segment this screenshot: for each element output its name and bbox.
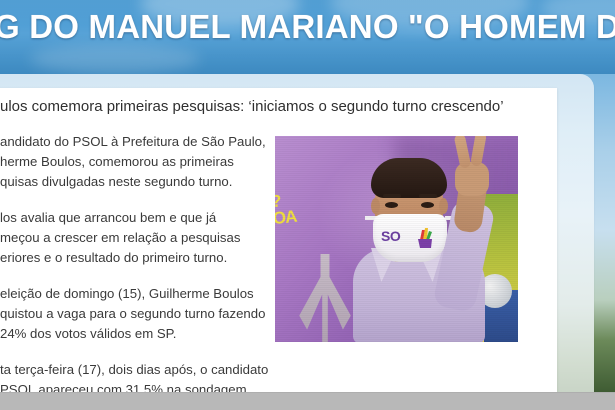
subject-eye-right	[421, 202, 434, 208]
psol-logo-icon	[413, 224, 437, 250]
cloud-decoration	[30, 44, 200, 74]
photo-canvas: ?OA	[275, 136, 518, 342]
horizontal-scrollbar[interactable]	[0, 392, 615, 410]
paragraph-line: meçou a crescer em relação a pesquisas	[0, 230, 240, 245]
paragraph-line: 24% dos votos válidos em SP.	[0, 326, 176, 341]
subject-peace-finger-middle	[470, 136, 487, 167]
browser-page: G DO MANUEL MARIANO "O HOMEM DA VIG ulos…	[0, 0, 615, 410]
paragraph-line: PSOL apareceu com 31,5% na sondagem	[0, 382, 247, 392]
mask-psol-text: SO	[381, 228, 400, 244]
subject-eyebrow-left	[383, 194, 401, 198]
paragraph-line: quistou a vaga para o segundo turno faze…	[0, 306, 265, 321]
paragraph-line: los avalia que arrancou bem e que já	[0, 210, 216, 225]
article-card: ulos comemora primeiras pesquisas: ‘inic…	[0, 88, 557, 392]
paragraph-line: ta terça-feira (17), dois dias após, o c…	[0, 362, 268, 377]
subject-peace-finger-index	[454, 136, 472, 169]
paragraph-line: quisas divulgadas neste segundo turno.	[0, 174, 232, 189]
subject-eyebrow-right	[419, 194, 437, 198]
article-body: andidato do PSOL à Prefeitura de São Pau…	[0, 132, 262, 392]
paragraph-line: andidato do PSOL à Prefeitura de São Pau…	[0, 134, 266, 149]
subject-eye-left	[385, 202, 398, 208]
subject-ear-left	[371, 198, 380, 214]
article-paragraph: los avalia que arrancou bem e que já meç…	[0, 208, 262, 268]
article-paragraph: eleição de domingo (15), Guilherme Boulo…	[0, 284, 262, 344]
face-mask: SO	[373, 214, 447, 262]
photo-subject: SO	[275, 136, 518, 342]
article-paragraph: ta terça-feira (17), dois dias após, o c…	[0, 360, 262, 392]
subject-hand	[455, 162, 489, 196]
site-header-band: G DO MANUEL MARIANO "O HOMEM DA VIG	[0, 0, 615, 74]
paragraph-line: herme Boulos, comemorou as primeiras	[0, 154, 234, 169]
subject-ear-right	[439, 198, 448, 214]
article-title[interactable]: ulos comemora primeiras pesquisas: ‘inic…	[0, 98, 504, 115]
blog-title[interactable]: G DO MANUEL MARIANO "O HOMEM DA VIG	[0, 8, 615, 46]
paragraph-line: eriores e o resultado do primeiro turno.	[0, 250, 227, 265]
paragraph-line: eleição de domingo (15), Guilherme Boulo…	[0, 286, 254, 301]
article-paragraph: andidato do PSOL à Prefeitura de São Pau…	[0, 132, 262, 192]
subject-hair	[371, 158, 447, 198]
article-photo[interactable]: ?OA	[275, 136, 518, 342]
